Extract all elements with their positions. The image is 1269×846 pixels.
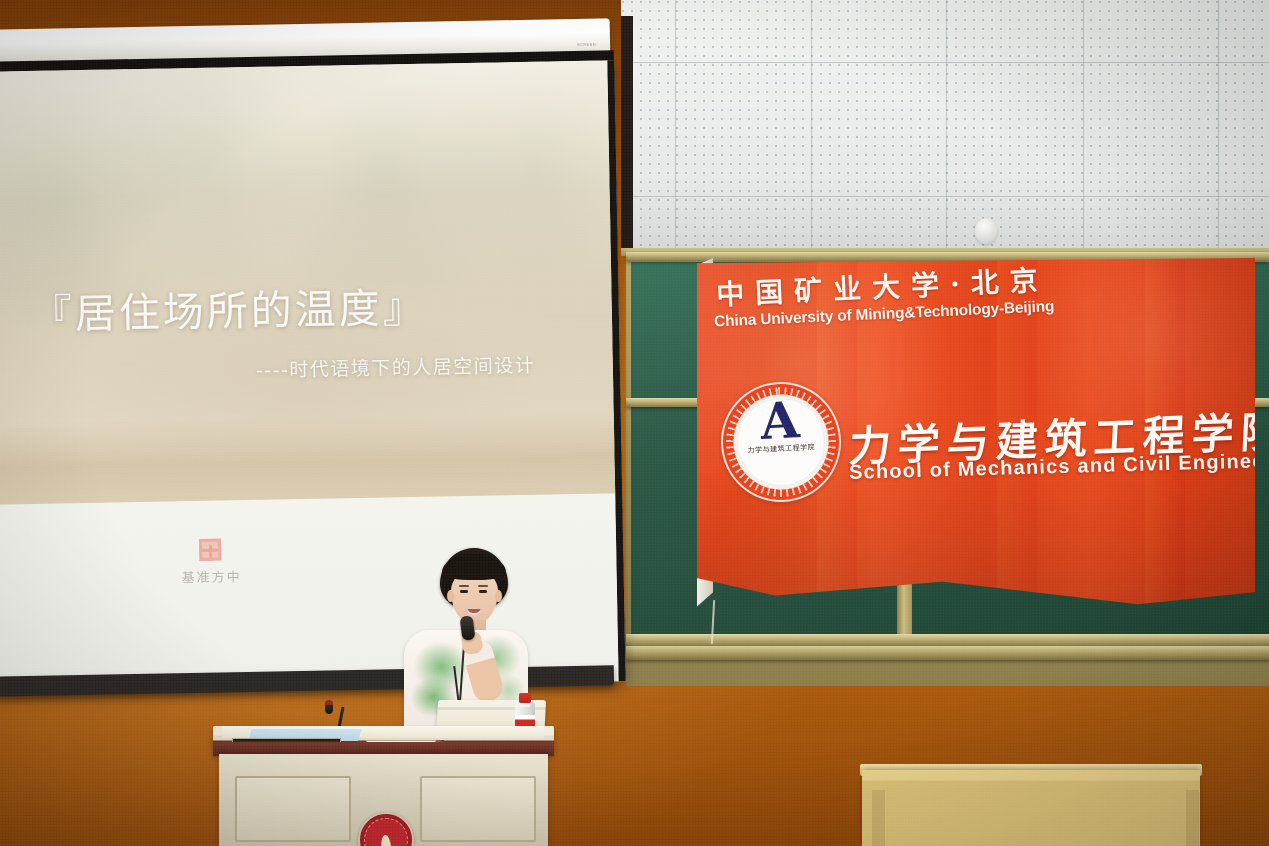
presenter-ear-left (447, 590, 454, 602)
presenter-brow-left (459, 585, 469, 587)
side-table-leg (872, 790, 885, 846)
presenter-eye-left (460, 590, 468, 593)
slide-subtitle: ----时代语境下的人居空间设计 (256, 351, 536, 383)
lecture-hall-photo: 中国矿业大学·北京 China University of Mining&Tec… (0, 0, 1269, 846)
housing-brand-label: SCREEN (577, 42, 596, 47)
ceiling-sensor-icon (975, 218, 997, 244)
perforated-acoustic-panel-wall (621, 0, 1269, 252)
chalkboard-rail-bottom (626, 634, 1269, 646)
bottle-cap (519, 693, 531, 703)
podium-panel (420, 776, 536, 842)
panel-seam (946, 0, 947, 252)
panel-seam (675, 0, 676, 252)
slide-company-name: 基准方中 (166, 566, 256, 587)
side-table-leg (1186, 790, 1199, 846)
gooseneck-microphone-tip (325, 700, 333, 705)
presenter-eye-right (479, 590, 487, 593)
panel-seam (1083, 0, 1084, 252)
slide-seal-icon (199, 539, 221, 561)
panel-seam (621, 62, 1269, 63)
side-table (862, 770, 1200, 846)
university-crest-icon (358, 812, 414, 846)
podium-panel (235, 776, 351, 842)
presenter-brow-right (478, 585, 488, 587)
panel-seam (1218, 0, 1219, 252)
department-banner: 中国矿业大学·北京 China University of Mining&Tec… (697, 258, 1255, 606)
podium-body (219, 754, 548, 846)
panel-seam (811, 0, 812, 252)
presenter-ear-right (495, 590, 502, 602)
slide-photo-ground (0, 411, 615, 504)
slide-title: 『居住场所的温度』 (30, 274, 427, 341)
panel-shading (621, 0, 1269, 252)
panel-seam (621, 196, 1269, 197)
chalkboard-chalk-tray (626, 646, 1269, 660)
ceiling-shadow-gap (621, 16, 633, 256)
seal-letter: A (721, 393, 839, 449)
